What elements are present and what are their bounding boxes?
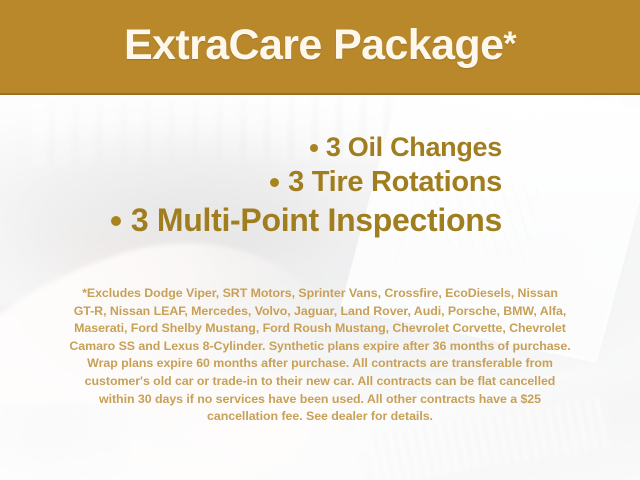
- disclaimer-line: GT-R, Nissan LEAF, Mercedes, Volvo, Jagu…: [32, 303, 608, 321]
- bullet-dot-icon: [111, 216, 121, 226]
- banner-content: 3 Oil Changes 3 Tire Rotations 3 Multi-P…: [0, 95, 640, 480]
- benefit-label: 3 Tire Rotations: [288, 166, 502, 198]
- page-title-text: ExtraCare Package: [124, 24, 503, 67]
- page-title-asterisk: *: [503, 27, 516, 61]
- header-band: ExtraCare Package*: [0, 0, 640, 95]
- benefit-label: 3 Multi-Point Inspections: [131, 202, 502, 238]
- page-title: ExtraCare Package*: [0, 0, 640, 95]
- disclaimer-line: cancellation fee. See dealer for details…: [32, 408, 608, 426]
- disclaimer-line: customer's old car or trade-in to their …: [32, 373, 608, 391]
- bullet-dot-icon: [310, 144, 318, 152]
- benefit-label: 3 Oil Changes: [326, 132, 502, 162]
- disclaimer-text: *Excludes Dodge Viper, SRT Motors, Sprin…: [32, 285, 608, 426]
- disclaimer-line: *Excludes Dodge Viper, SRT Motors, Sprin…: [32, 285, 608, 303]
- list-item: 3 Multi-Point Inspections: [0, 203, 502, 238]
- disclaimer-line: Maserati, Ford Shelby Mustang, Ford Rous…: [32, 320, 608, 338]
- list-item: 3 Oil Changes: [0, 133, 502, 162]
- disclaimer-line: Wrap plans expire 60 months after purcha…: [32, 355, 608, 373]
- extracare-package-banner: ExtraCare Package* 3 Oil Changes 3 Tire …: [0, 0, 640, 480]
- bullet-dot-icon: [270, 178, 279, 187]
- disclaimer-line: Camaro SS and Lexus 8-Cylinder. Syntheti…: [32, 338, 608, 356]
- benefits-list: 3 Oil Changes 3 Tire Rotations 3 Multi-P…: [0, 133, 640, 238]
- disclaimer-line: within 30 days if no services have been …: [32, 391, 608, 409]
- list-item: 3 Tire Rotations: [0, 167, 502, 198]
